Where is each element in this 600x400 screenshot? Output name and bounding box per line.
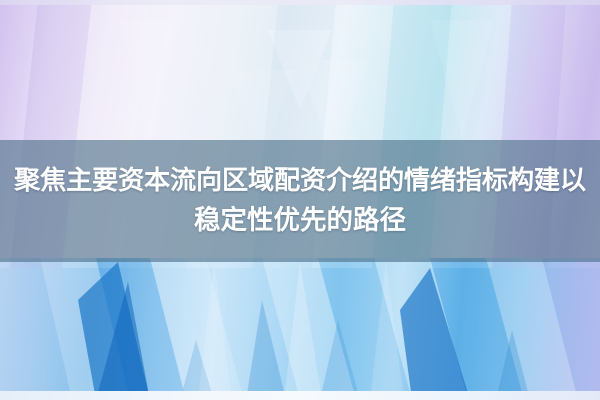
top-edge-strip — [0, 0, 600, 5]
headline-line-1: 聚焦主要资本流向区域配资介绍的情绪指标构建以 — [14, 161, 586, 201]
headline-line-2: 稳定性优先的路径 — [194, 201, 406, 241]
promo-banner: 聚焦主要资本流向区域配资介绍的情绪指标构建以 稳定性优先的路径 — [0, 0, 600, 400]
headline-band: 聚焦主要资本流向区域配资介绍的情绪指标构建以 稳定性优先的路径 — [0, 140, 600, 262]
bottom-edge-strip — [0, 391, 600, 400]
background-lower-gradient — [0, 258, 600, 400]
